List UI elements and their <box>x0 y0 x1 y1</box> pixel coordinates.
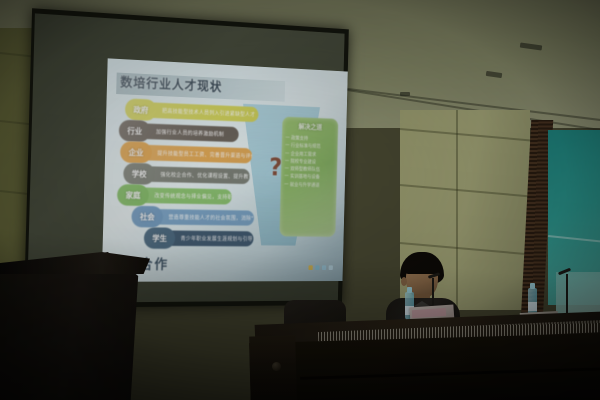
footer-dot-icon <box>308 265 312 270</box>
diagram-row: 家庭 改变传统观念与择业偏见，支持职业技能教育 <box>117 184 232 207</box>
footer-dot-icon <box>315 265 319 270</box>
slide-footer-dots <box>308 265 332 270</box>
slide-title-band: 数培行业人才现状 <box>116 73 285 102</box>
diagram-row: 学校 强化校企合作、优化课程设置、提升教育实训质量 <box>123 163 250 187</box>
row-text: 提升技能型员工工资、完善晋升渠道与评价体系 <box>146 145 252 164</box>
row-text: 青少年职业发展生涯规划与引导 <box>169 230 253 246</box>
row-text: 强化校企合作、优化课程设置、提升教育实训质量 <box>149 166 250 184</box>
row-text: 把高技能型技术人员列入引进紧缺型人才 <box>151 102 259 122</box>
ceiling-vent-icon <box>400 92 410 96</box>
diagram-row: 学生 青少年职业发展生涯规划与引导 <box>144 227 254 249</box>
diagram-row: 社会 营造尊重技能人才的社会氛围，消除"学历""身份"偏见 <box>131 206 254 229</box>
row-text: 加强行业人员的培养激励机制 <box>145 123 239 142</box>
row-label: 企业 <box>120 141 152 163</box>
desk-knob <box>272 362 281 371</box>
lecture-hall-photo: 数培行业人才现状 ? 政府 把高技能型技术人员列入引进紧缺型人才 行业 加强行业… <box>0 0 600 400</box>
slide-title: 数培行业人才现状 <box>116 73 285 102</box>
row-label: 政府 <box>125 98 157 121</box>
row-label: 学校 <box>123 163 155 185</box>
presenter-ear <box>401 277 407 286</box>
ceiling-vent-icon <box>520 42 542 50</box>
presenter-fringe <box>402 260 442 274</box>
solution-panel: 解决之道 一 政策支持 一 行业标准与规范 一 企业用工需求 一 院校专业建设 … <box>279 117 338 237</box>
footer-dot-icon <box>329 265 333 270</box>
solution-item: 一 就业与升学通道 <box>284 181 333 190</box>
wall-panel-line <box>400 128 550 143</box>
desk-front-panel <box>249 333 600 400</box>
footer-dot-icon <box>322 265 326 270</box>
presentation-slide: 数培行业人才现状 ? 政府 把高技能型技术人员列入引进紧缺型人才 行业 加强行业… <box>102 58 348 281</box>
row-label: 学生 <box>144 227 176 249</box>
row-text: 改变传统观念与择业偏见，支持职业技能教育 <box>143 187 232 204</box>
ceiling-vent-icon <box>486 71 503 78</box>
row-label: 社会 <box>131 206 163 228</box>
row-label: 家庭 <box>117 184 149 206</box>
row-text: 营造尊重技能人才的社会氛围，消除"学历""身份"偏见 <box>157 209 254 226</box>
solution-panel-title: 解决之道 <box>286 121 335 132</box>
row-label: 行业 <box>119 120 151 143</box>
bottle-label <box>528 302 537 311</box>
teal-wall-panel-lower <box>556 272 600 317</box>
